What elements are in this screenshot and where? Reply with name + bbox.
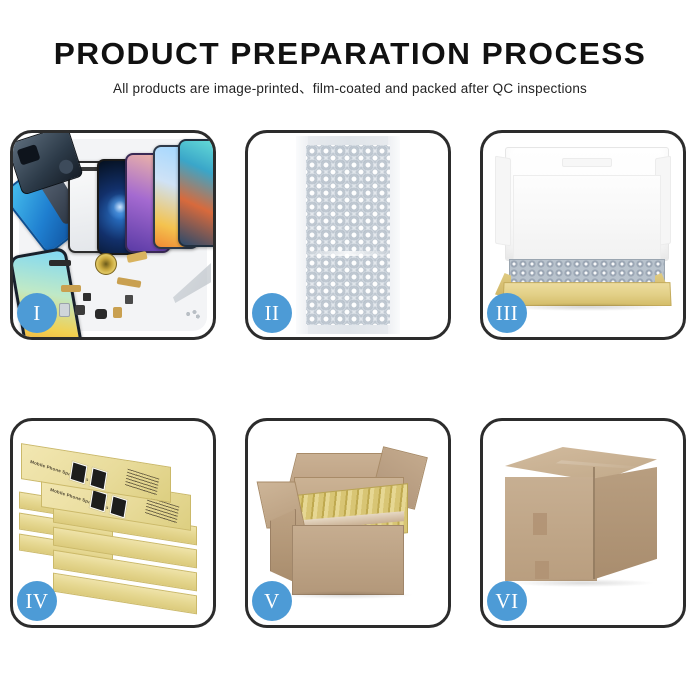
bubble-wrap-bubbles xyxy=(306,145,390,325)
process-step-panel-6: VI xyxy=(480,418,686,628)
bubble-wrap-in-box xyxy=(509,259,665,285)
process-step-panel-1: I xyxy=(10,130,216,340)
speaker-part xyxy=(49,260,71,266)
carton-tape-lower xyxy=(535,561,549,579)
step-badge-5: V xyxy=(252,581,292,621)
screws-group xyxy=(185,309,201,319)
flex-cable-1 xyxy=(61,285,81,292)
small-part-2 xyxy=(75,305,85,315)
header: PRODUCT PREPARATION PROCESS All products… xyxy=(0,0,700,96)
box-lid-flap-left xyxy=(495,156,511,247)
process-step-panel-2: II xyxy=(245,130,451,340)
process-step-panel-3: III xyxy=(480,130,686,340)
carton-front-wall xyxy=(292,525,404,595)
carton-drop-shadow xyxy=(282,591,412,599)
small-part-5 xyxy=(83,293,91,301)
carton-tape-upper xyxy=(533,513,547,535)
sealed-carton-side xyxy=(595,467,657,579)
small-part-4 xyxy=(113,307,122,318)
small-part-3 xyxy=(95,309,107,319)
box-lid-tab xyxy=(562,158,612,167)
page-title: PRODUCT PREPARATION PROCESS xyxy=(0,0,700,69)
box-spec-lines-rear xyxy=(125,469,160,497)
product-preparation-process-page: PRODUCT PREPARATION PROCESS All products… xyxy=(0,0,700,700)
page-subtitle: All products are image-printed、film-coat… xyxy=(0,69,700,96)
step-badge-2: II xyxy=(252,293,292,333)
wireless-charging-coil xyxy=(95,253,117,275)
step-badge-6: VI xyxy=(487,581,527,621)
box-product-image-rear-1 xyxy=(68,460,88,486)
box-inner-panel xyxy=(513,175,661,261)
phone-screen-wave xyxy=(178,139,213,247)
step-badge-1: I xyxy=(17,293,57,333)
process-step-panel-4: Mobile Phone Spare Parts Mobile Phone Sp… xyxy=(10,418,216,628)
box-drop-shadow xyxy=(507,303,665,311)
small-part-1 xyxy=(59,303,70,317)
process-step-panel-5: V xyxy=(245,418,451,628)
sealed-carton-edge xyxy=(593,467,595,579)
sealed-carton-front xyxy=(505,477,597,581)
box-product-image-front-2 xyxy=(108,494,128,520)
bubble-wrap-seam xyxy=(305,251,391,256)
sealed-carton-shadow xyxy=(513,579,653,587)
step-badge-4: IV xyxy=(17,581,57,621)
small-part-6 xyxy=(125,295,133,304)
step-badge-3: III xyxy=(487,293,527,333)
process-step-grid: I II xyxy=(10,130,690,635)
box-product-image-rear-2 xyxy=(88,466,108,492)
